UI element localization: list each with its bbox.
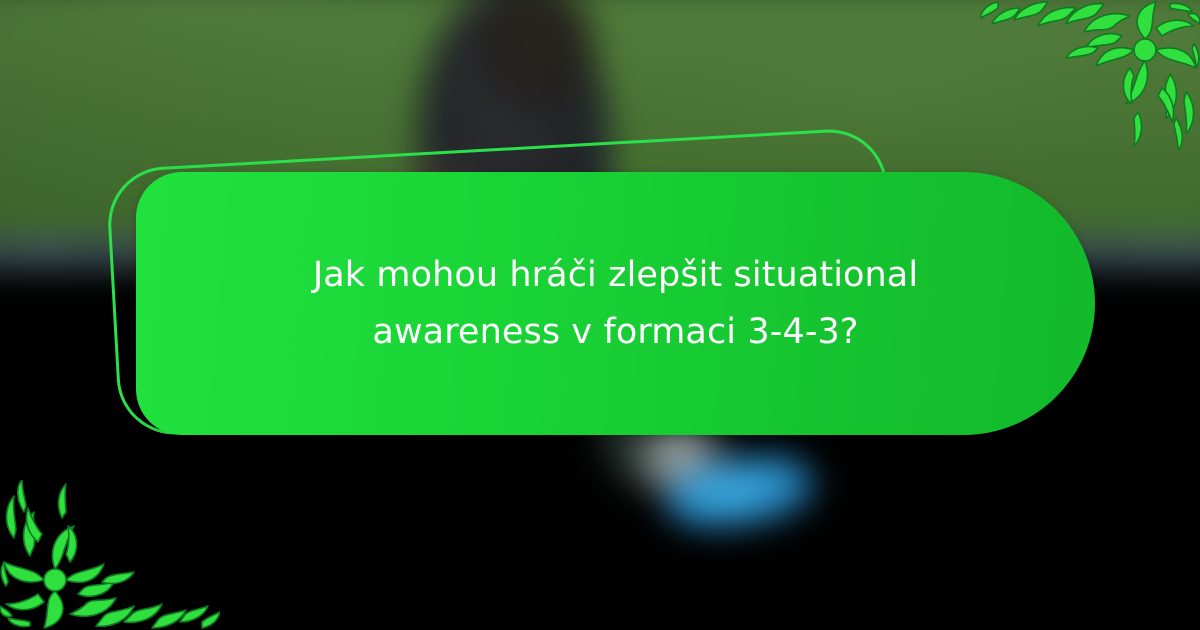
- question-text: Jak mohou hráči zlepšit situational awar…: [272, 247, 960, 360]
- social-card-canvas: Jak mohou hráči zlepšit situational awar…: [0, 0, 1200, 630]
- question-card: Jak mohou hráči zlepšit situational awar…: [136, 172, 1095, 435]
